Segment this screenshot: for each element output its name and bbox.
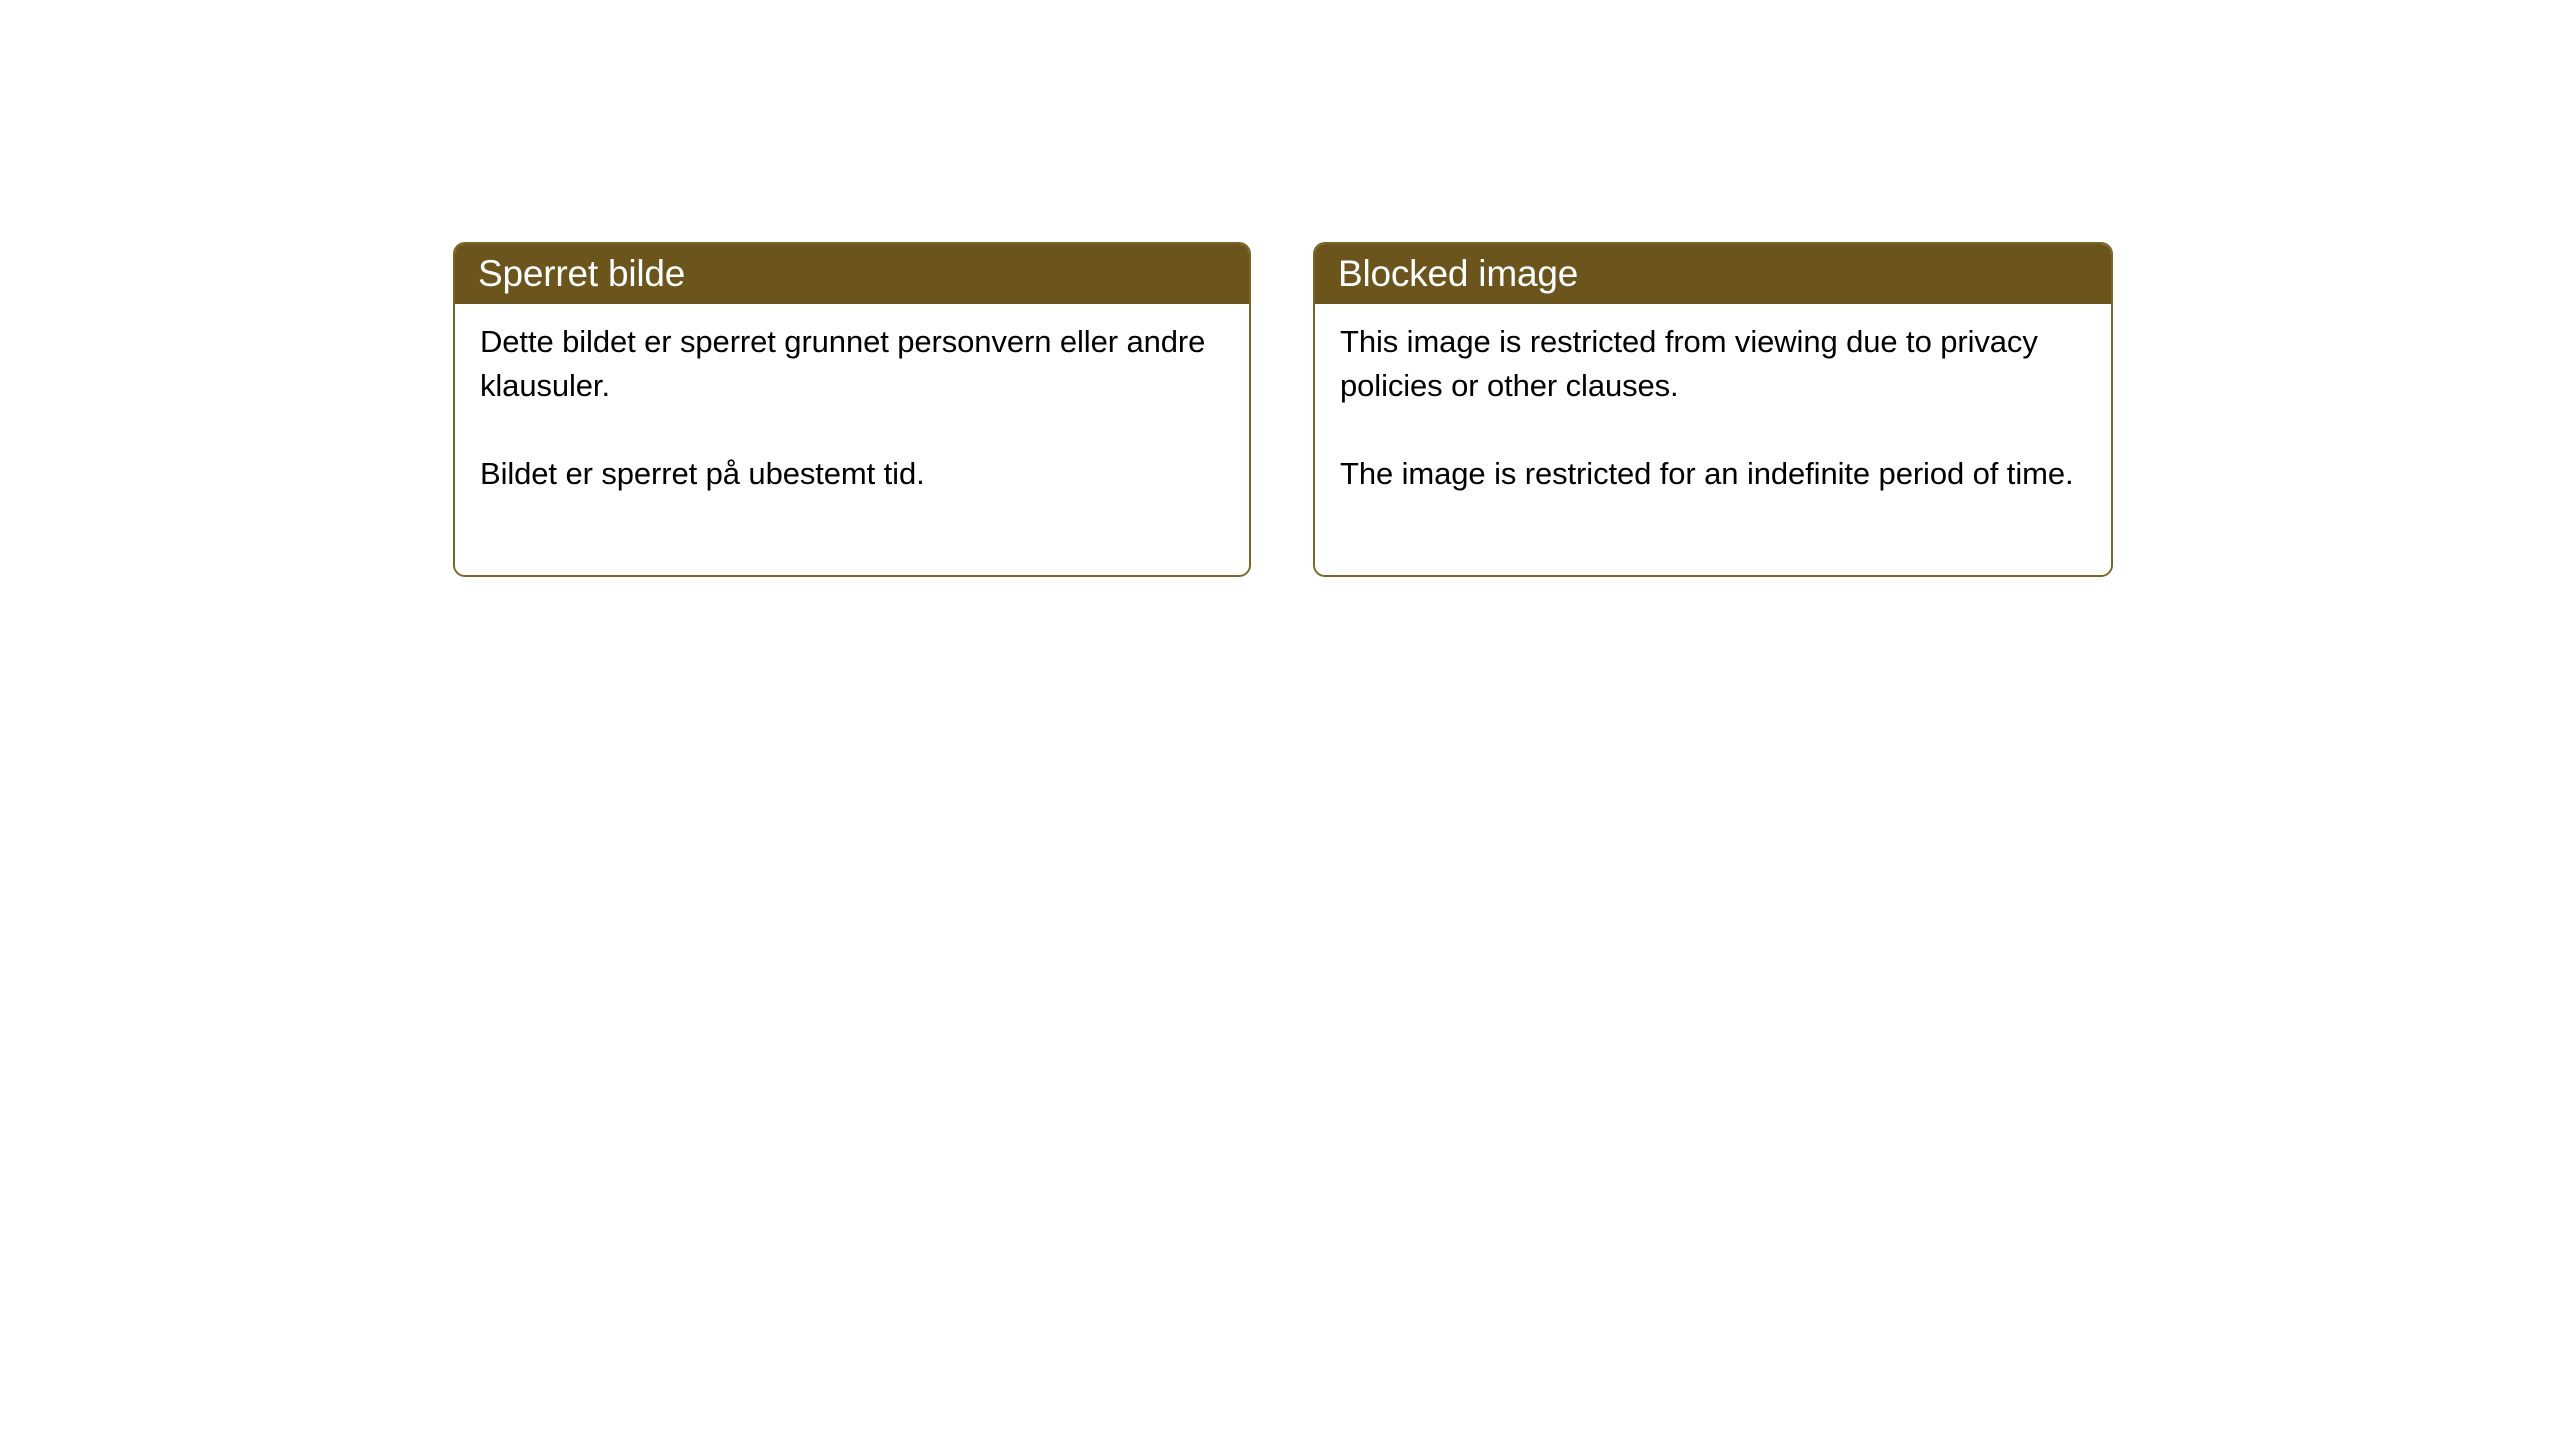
blocked-image-panel-english: Blocked image This image is restricted f… (1313, 242, 2113, 577)
panel-paragraph-duration-english: The image is restricted for an indefinit… (1340, 452, 2089, 496)
panel-header-norwegian: Sperret bilde (454, 243, 1250, 304)
panel-header-english: Blocked image (1314, 243, 2112, 304)
panel-paragraph-reason-norwegian: Dette bildet er sperret grunnet personve… (480, 320, 1227, 408)
panel-body-norwegian: Dette bildet er sperret grunnet personve… (455, 304, 1249, 574)
panel-title-norwegian: Sperret bilde (478, 254, 685, 294)
page-canvas: Sperret bilde Dette bildet er sperret gr… (0, 0, 2560, 1440)
panel-paragraph-duration-norwegian: Bildet er sperret på ubestemt tid. (480, 452, 1227, 496)
panel-paragraph-reason-english: This image is restricted from viewing du… (1340, 320, 2089, 408)
blocked-image-panel-norwegian: Sperret bilde Dette bildet er sperret gr… (453, 242, 1251, 577)
panel-title-english: Blocked image (1338, 254, 1578, 294)
panel-body-english: This image is restricted from viewing du… (1315, 304, 2111, 574)
